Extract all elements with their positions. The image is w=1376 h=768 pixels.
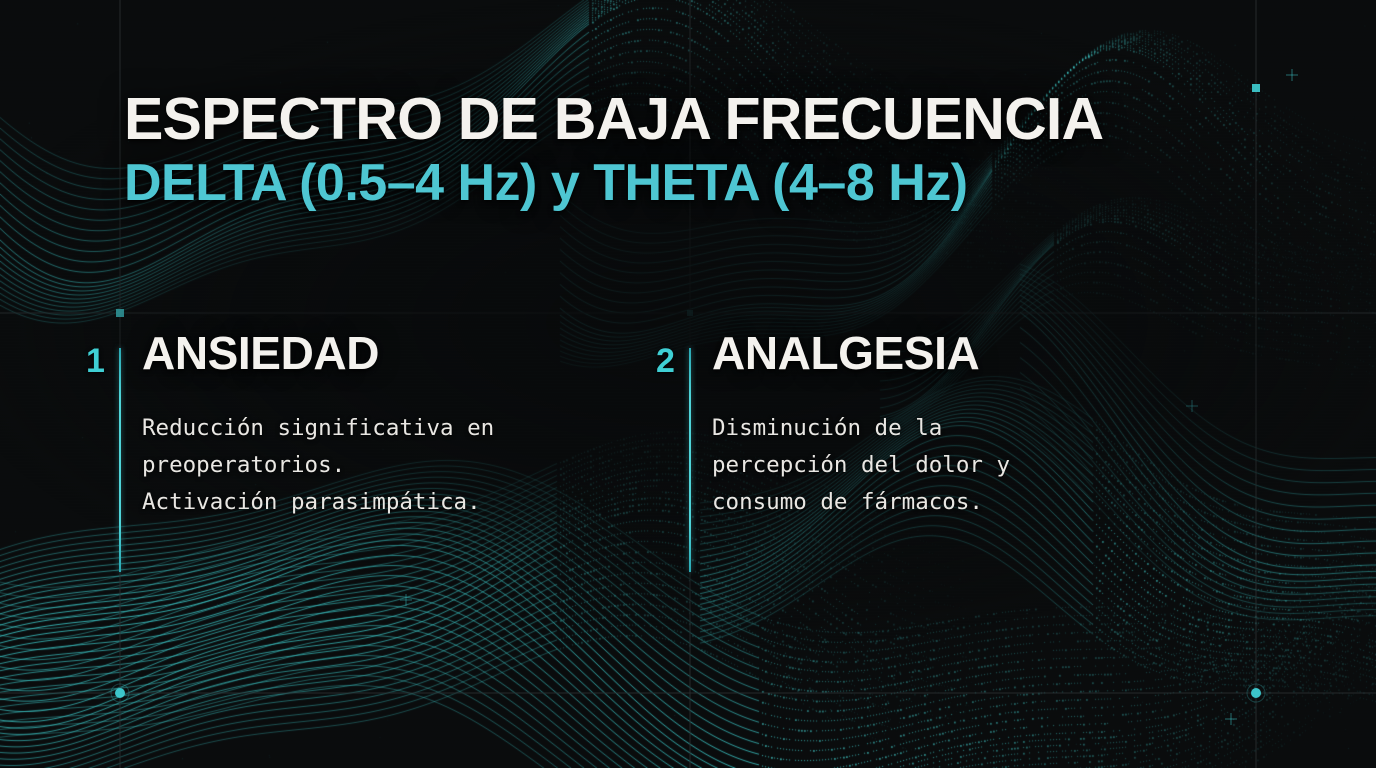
card-title: ANSIEDAD <box>142 330 606 376</box>
card-body: ANALGESIA Disminución de la percepción d… <box>712 330 1176 521</box>
page-subtitle: DELTA (0.5–4 Hz) y THETA (4–8 Hz) <box>124 156 1103 211</box>
card-description: Reducción significativa en preoperatorio… <box>142 410 606 521</box>
card-body: ANSIEDAD Reducción significativa en preo… <box>142 330 606 521</box>
title-block: ESPECTRO DE BAJA FRECUENCIA DELTA (0.5–4… <box>124 88 1103 211</box>
card-analgesia: 2 ANALGESIA Disminución de la percepción… <box>656 330 1176 521</box>
slide-root: ESPECTRO DE BAJA FRECUENCIA DELTA (0.5–4… <box>0 0 1376 768</box>
page-title: ESPECTRO DE BAJA FRECUENCIA <box>124 88 1103 151</box>
card-description: Disminución de la percepción del dolor y… <box>712 410 1176 521</box>
card-title: ANALGESIA <box>712 330 1176 376</box>
slide-content: ESPECTRO DE BAJA FRECUENCIA DELTA (0.5–4… <box>0 0 1376 768</box>
card-ansiedad: 1 ANSIEDAD Reducción significativa en pr… <box>86 330 606 521</box>
card-number: 2 <box>656 344 675 378</box>
card-accent-bar <box>689 348 691 572</box>
card-number: 1 <box>86 344 105 378</box>
card-accent-bar <box>119 348 121 572</box>
